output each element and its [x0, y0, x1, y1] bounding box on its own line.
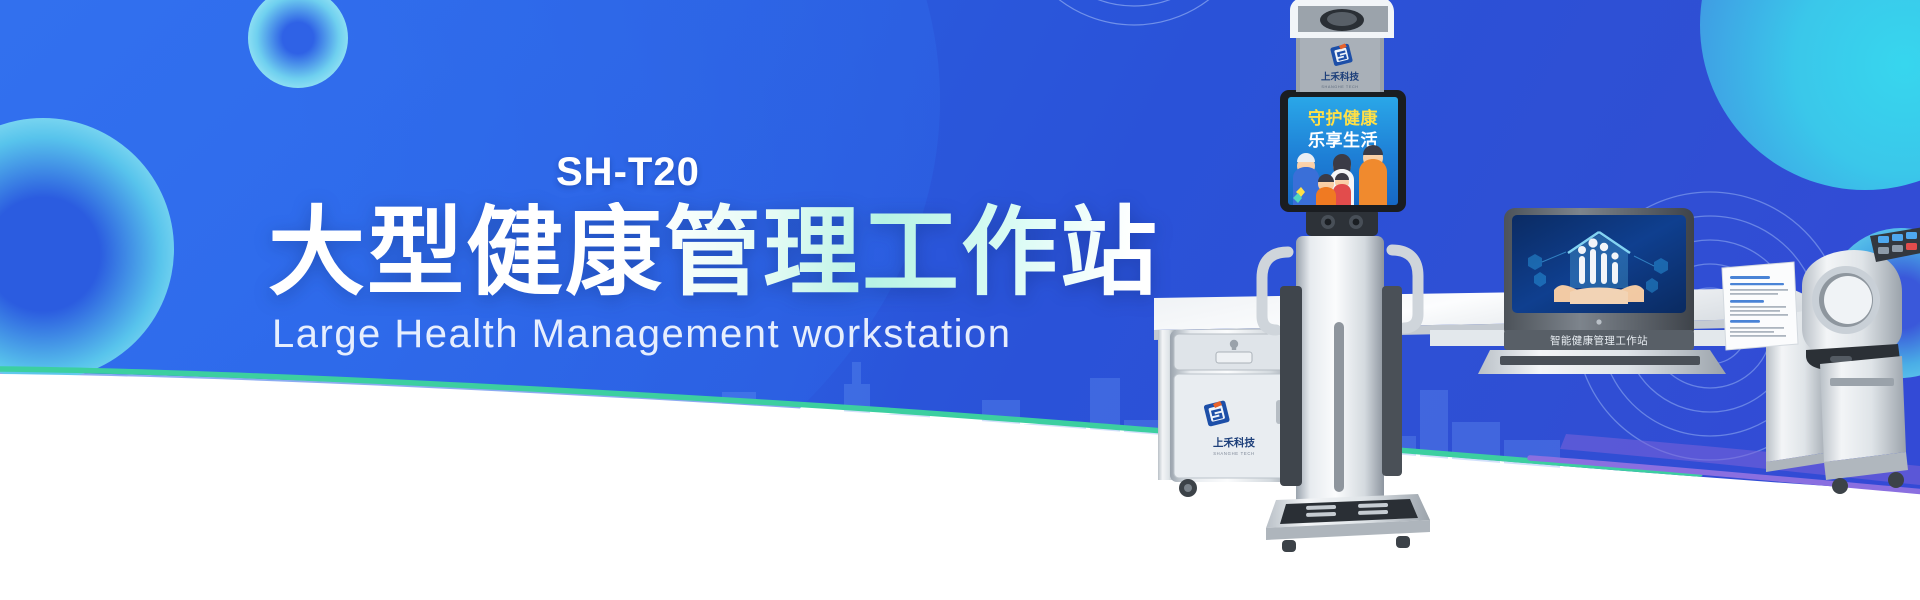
laptop-terminal: 智能健康管理工作站 [1478, 208, 1726, 374]
model-code: SH-T20 [556, 150, 700, 195]
headline-chinese: 大型健康管理工作站 [268, 202, 1159, 304]
product-photo: 上禾科技 SHANGHE TECH [1130, 0, 1920, 600]
cabinet-logo-sub: SHANGHE TECH [1213, 451, 1255, 456]
product-banner: SH-T20 大型健康管理工作站 Large Health Management… [0, 0, 1920, 600]
cabinet-logo-text: 上禾科技 [1213, 436, 1255, 449]
kiosk-tower: 守护健康 乐享生活 [1262, 0, 1430, 552]
kiosk-screen-line1: 守护健康 [1308, 108, 1378, 128]
headline-block: SH-T20 大型健康管理工作站 Large Health Management… [0, 0, 1100, 600]
subtitle-english: Large Health Management workstation [272, 312, 1012, 357]
printed-report [1722, 262, 1798, 350]
laptop-caption: 智能健康管理工作站 [1550, 334, 1648, 347]
kiosk-brand-text: 上禾科技 [1321, 71, 1360, 83]
blood-pressure-monitor [1802, 226, 1920, 370]
kiosk-brand-sub: SHANGHE TECH [1321, 85, 1358, 89]
side-printer-unit [1820, 356, 1908, 494]
